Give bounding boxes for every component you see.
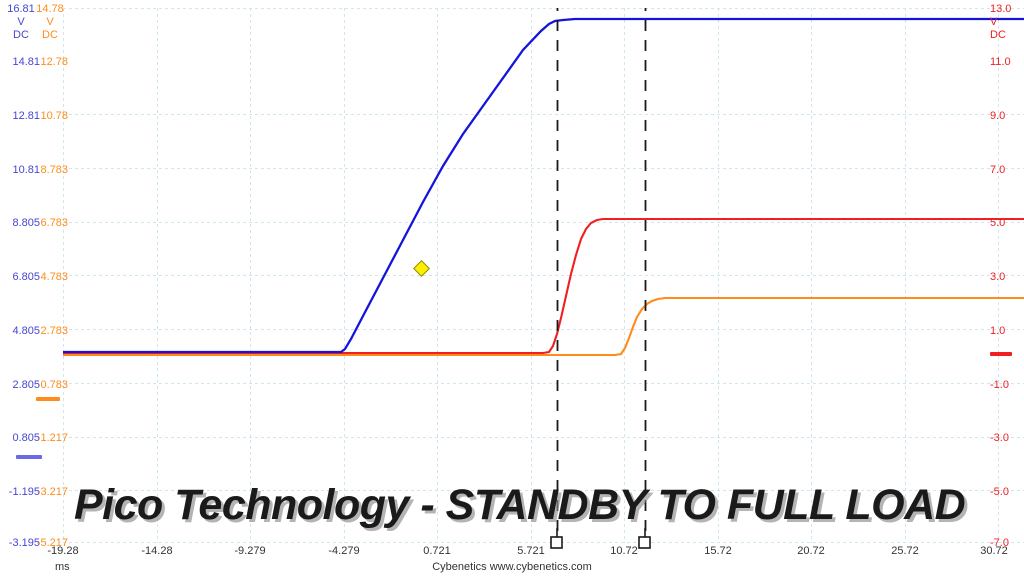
axis-right-red-tick: 9.0 [990, 111, 1024, 122]
x-axis-tick: -14.28 [117, 545, 197, 557]
axis-left-orange-unit-dc: DC [32, 29, 68, 42]
axis-right-red-tick: 1.0 [990, 326, 1024, 337]
axis-left-orange-tick: 6.783 [28, 218, 68, 229]
channel-orange-level-swatch [36, 397, 60, 401]
axis-left-orange-tick: -1.217 [28, 433, 68, 444]
page-title: Pico Technology - STANDBY TO FULL LOAD [74, 481, 974, 530]
x-axis-tick: -4.279 [304, 545, 384, 557]
trace-channel-blue [63, 19, 1024, 352]
axis-right-red-tick: 11.0 [990, 57, 1024, 68]
axis-right-red-tick: -1.0 [990, 380, 1024, 391]
x-axis-tick: 30.72 [954, 545, 1024, 557]
axis-right-red-unit: 13.0 V DC [990, 3, 1024, 42]
credit-footer: Cybenetics www.cybenetics.com [0, 561, 1024, 573]
axis-right-red-top-value: 13.0 [990, 3, 1024, 16]
x-axis-tick: 25.72 [865, 545, 945, 557]
axis-left-orange-tick: 12.78 [28, 57, 68, 68]
axis-left-orange-tick: 0.783 [28, 380, 68, 391]
axis-left-orange-unit: 14.78 V DC [32, 3, 68, 42]
axis-left-orange-tick: 4.783 [28, 272, 68, 283]
plot-svg [63, 8, 1024, 543]
axis-right-red-tick: -3.0 [990, 433, 1024, 444]
axis-left-orange-tick: 8.783 [28, 165, 68, 176]
x-axis-tick: 10.72 [584, 545, 664, 557]
grid-lines [63, 8, 1024, 543]
oscilloscope-screenshot: 16.81 V DC 14.81 12.81 10.81 8.805 6.805… [0, 0, 1024, 576]
x-axis-tick: 15.72 [678, 545, 758, 557]
axis-left-orange-tick: 10.78 [28, 111, 68, 122]
plot-area[interactable] [63, 8, 1024, 543]
axis-left-orange-unit-v: V [32, 16, 68, 29]
axis-right-red-tick: -5.0 [990, 487, 1024, 498]
measurement-marker-icon[interactable] [414, 261, 430, 277]
x-axis-tick: -19.28 [23, 545, 103, 557]
axis-right-red-tick: 5.0 [990, 218, 1024, 229]
x-axis-tick: 20.72 [771, 545, 851, 557]
axis-left-orange-top-value: 14.78 [32, 3, 68, 16]
x-axis-tick: 5.721 [491, 545, 571, 557]
axis-right-red-unit-dc: DC [990, 29, 1024, 42]
channel-blue-level-swatch [16, 455, 42, 459]
x-axis-tick: -9.279 [210, 545, 290, 557]
axis-left-orange-tick: -3.217 [28, 487, 68, 498]
axis-left-orange-tick: 2.783 [28, 326, 68, 337]
axis-right-red-tick: 7.0 [990, 165, 1024, 176]
trace-channel-red [63, 219, 1024, 353]
axis-right-red-unit-v: V [990, 16, 1024, 29]
channel-red-level-swatch-right [990, 352, 1012, 356]
trace-channel-orange [63, 298, 1024, 355]
x-axis-tick: 0.721 [397, 545, 477, 557]
axis-right-red-tick: 3.0 [990, 272, 1024, 283]
